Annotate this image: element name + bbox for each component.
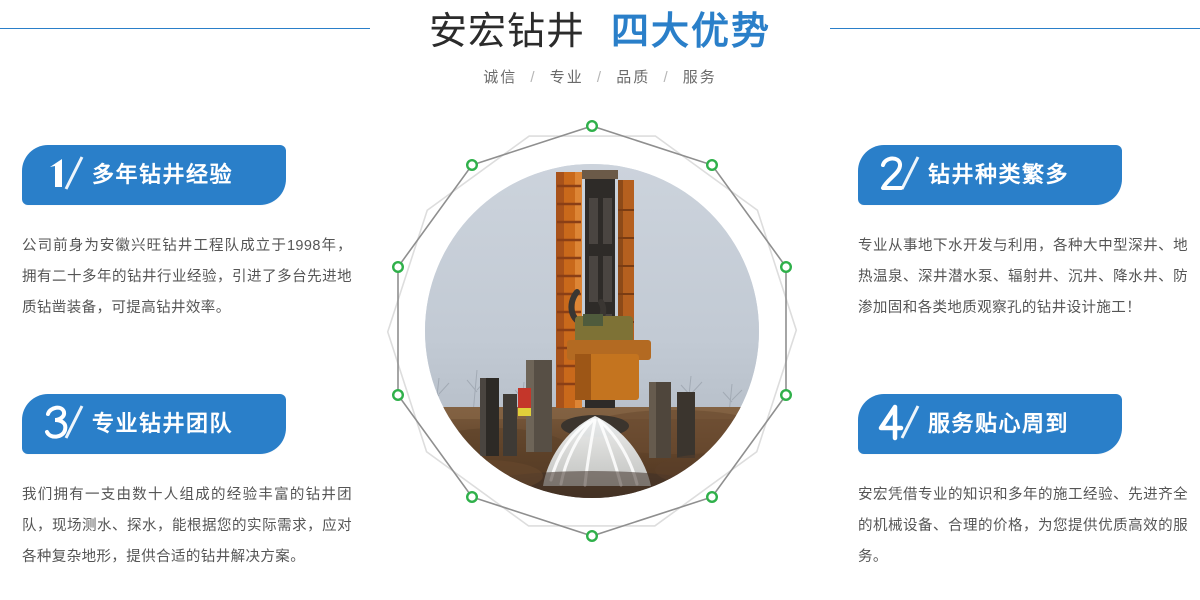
feature-title-4: 服务贴心周到: [928, 413, 1069, 435]
subtitle-separator: /: [523, 69, 543, 86]
feature-card-2: 钻井种类繁多 专业从事地下水开发与利用，各种大中型深井、地热温泉、深井潜水泵、辐…: [858, 145, 1200, 324]
decagon-node: [781, 262, 791, 272]
drilling-site-photo: [425, 164, 759, 498]
feature-card-3: 专业钻井团队 我们拥有一支由数十人组成的经验丰富的钻井团队，现场测水、探水，能根…: [22, 394, 382, 573]
feature-text-3: 我们拥有一支由数十人组成的经验丰富的钻井团队，现场测水、探水，能根据您的实际需求…: [22, 480, 352, 573]
feature-text-1: 公司前身为安徽兴旺钻井工程队成立于1998年，拥有二十多年的钻井行业经验，引进了…: [22, 231, 352, 324]
title-highlight: 四大优势: [611, 8, 771, 56]
decagon-node: [781, 390, 791, 400]
feature-text-2: 专业从事地下水开发与利用，各种大中型深井、地热温泉、深井潜水泵、辐射井、沉井、降…: [858, 231, 1188, 324]
title-company: 安宏钻井: [429, 8, 585, 56]
feature-text-4: 安宏凭借专业的知识和多年的施工经验、先进齐全的机械设备、合理的价格，为您提供优质…: [858, 480, 1188, 573]
feature-badge-3[interactable]: 专业钻井团队: [22, 394, 286, 454]
page-header: 安宏钻井 四大优势 诚信 / 专业 / 品质 / 服务: [0, 0, 1200, 110]
decagon-node: [587, 531, 597, 541]
feature-card-4: 服务贴心周到 安宏凭借专业的知识和多年的施工经验、先进齐全的机械设备、合理的价格…: [858, 394, 1200, 573]
feature-title-2: 钻井种类繁多: [928, 164, 1069, 186]
decagon-node: [393, 390, 403, 400]
page-title: 安宏钻井 四大优势: [0, 8, 1200, 56]
feature-title-1: 多年钻井经验: [92, 164, 233, 186]
center-graphic: [362, 101, 822, 561]
subtitle-separator: /: [656, 69, 676, 86]
number-3-icon: [42, 402, 88, 446]
subtitle-keywords: 诚信 / 专业 / 品质 / 服务: [0, 66, 1200, 87]
decagon-node: [587, 121, 597, 131]
number-2-icon: [878, 153, 924, 197]
subtitle-item-2: 品质: [616, 69, 650, 86]
feature-badge-4[interactable]: 服务贴心周到: [858, 394, 1122, 454]
subtitle-item-1: 专业: [550, 69, 584, 86]
subtitle-separator: /: [590, 69, 610, 86]
feature-card-1: 多年钻井经验 公司前身为安徽兴旺钻井工程队成立于1998年，拥有二十多年的钻井行…: [22, 145, 382, 324]
decagon-node: [393, 262, 403, 272]
promo-banner: 安宏钻井 四大优势 诚信 / 专业 / 品质 / 服务 多年钻井经验: [0, 0, 1200, 600]
number-1-icon: [42, 153, 88, 197]
features-column-left: 多年钻井经验 公司前身为安徽兴旺钻井工程队成立于1998年，拥有二十多年的钻井行…: [22, 145, 382, 579]
subtitle-item-3: 服务: [683, 69, 717, 86]
features-column-right: 钻井种类繁多 专业从事地下水开发与利用，各种大中型深井、地热温泉、深井潜水泵、辐…: [858, 145, 1200, 579]
feature-badge-1[interactable]: 多年钻井经验: [22, 145, 286, 205]
subtitle-item-0: 诚信: [483, 69, 517, 86]
feature-title-3: 专业钻井团队: [92, 413, 233, 435]
number-4-icon: [878, 402, 924, 446]
feature-badge-2[interactable]: 钻井种类繁多: [858, 145, 1122, 205]
